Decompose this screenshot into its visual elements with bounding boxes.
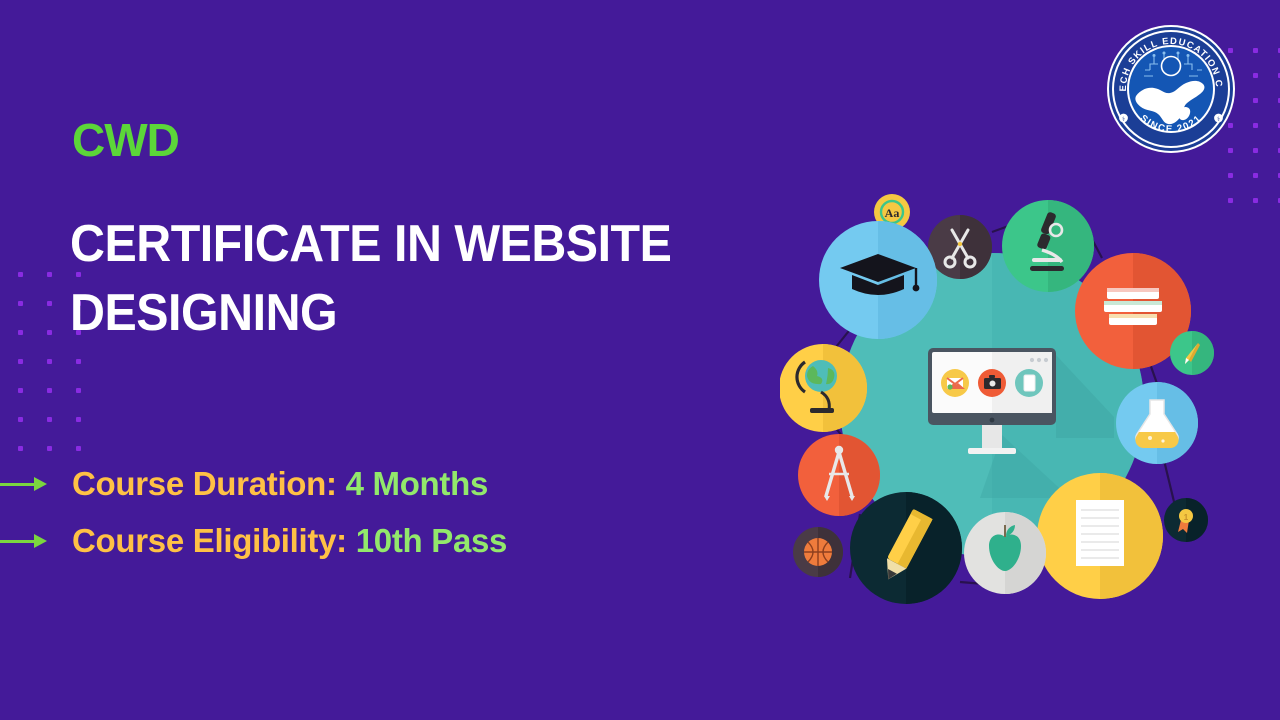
node-notepad [1037, 473, 1163, 599]
decorative-dot [47, 330, 52, 335]
node-scissors [928, 215, 992, 279]
course-duration-value: 4 Months [346, 465, 488, 502]
page-title: CERTIFICATE IN WEBSITE DESIGNING [70, 210, 702, 347]
education-illustration: Aa [780, 180, 1220, 610]
decorative-dot [18, 272, 23, 277]
svg-text:1: 1 [1184, 513, 1189, 522]
decorative-dot [18, 446, 23, 451]
decorative-dot [18, 359, 23, 364]
node-compass [798, 434, 880, 516]
decorative-dot [47, 301, 52, 306]
decorative-dot [47, 388, 52, 393]
app-icon-mail [941, 369, 969, 397]
decorative-dot [76, 446, 81, 451]
node-brush [1170, 331, 1214, 375]
svg-text:⚕: ⚕ [1122, 116, 1125, 123]
decorative-dot [47, 272, 52, 277]
decorative-dot [1253, 148, 1258, 153]
svg-text:Aa: Aa [885, 206, 900, 220]
decorative-dot [18, 388, 23, 393]
decorative-dot [1228, 198, 1233, 203]
decorative-dot [1228, 173, 1233, 178]
decorative-dot [76, 359, 81, 364]
node-pencil [850, 492, 962, 604]
node-flask [1116, 382, 1198, 464]
course-eligibility-value: 10th Pass [356, 522, 507, 559]
list-item: Course Duration: 4 Months [0, 455, 700, 512]
decorative-dot [1253, 98, 1258, 103]
node-award: 1 [1164, 498, 1208, 542]
node-basketball [793, 527, 843, 577]
course-eligibility-label: Course Eligibility: [72, 522, 347, 559]
svg-text:⚕: ⚕ [1217, 116, 1220, 123]
decorative-dot [47, 359, 52, 364]
decorative-dot [1253, 198, 1258, 203]
arrow-right-icon [0, 530, 50, 552]
list-item: Course Eligibility: 10th Pass [0, 512, 700, 569]
decorative-dot [1253, 123, 1258, 128]
node-microscope [1002, 200, 1094, 292]
decorative-dot [1253, 48, 1258, 53]
course-facts-list: Course Duration: 4 Months Course Eligibi… [0, 455, 700, 569]
decorative-dot [47, 417, 52, 422]
decorative-dot [76, 417, 81, 422]
app-icon-document [1015, 369, 1043, 397]
course-code: CWD [72, 117, 179, 163]
node-graduation-cap [819, 221, 937, 339]
course-duration-label: Course Duration: [72, 465, 337, 502]
node-globe [780, 344, 867, 432]
decorative-dot [18, 417, 23, 422]
decorative-dot [18, 301, 23, 306]
decorative-dot [47, 446, 52, 451]
decorative-dot [1253, 173, 1258, 178]
organization-logo: AXOMTECH SKILL EDUCATION COUNCIL SINCE 2… [1106, 24, 1236, 154]
poster-canvas: CWD CERTIFICATE IN WEBSITE DESIGNING Cou… [0, 0, 1280, 720]
app-icon-camera [978, 369, 1006, 397]
decorative-dot [1253, 73, 1258, 78]
arrow-right-icon [0, 473, 50, 495]
decorative-dot [18, 330, 23, 335]
decorative-dot [76, 388, 81, 393]
node-apple [964, 512, 1046, 594]
